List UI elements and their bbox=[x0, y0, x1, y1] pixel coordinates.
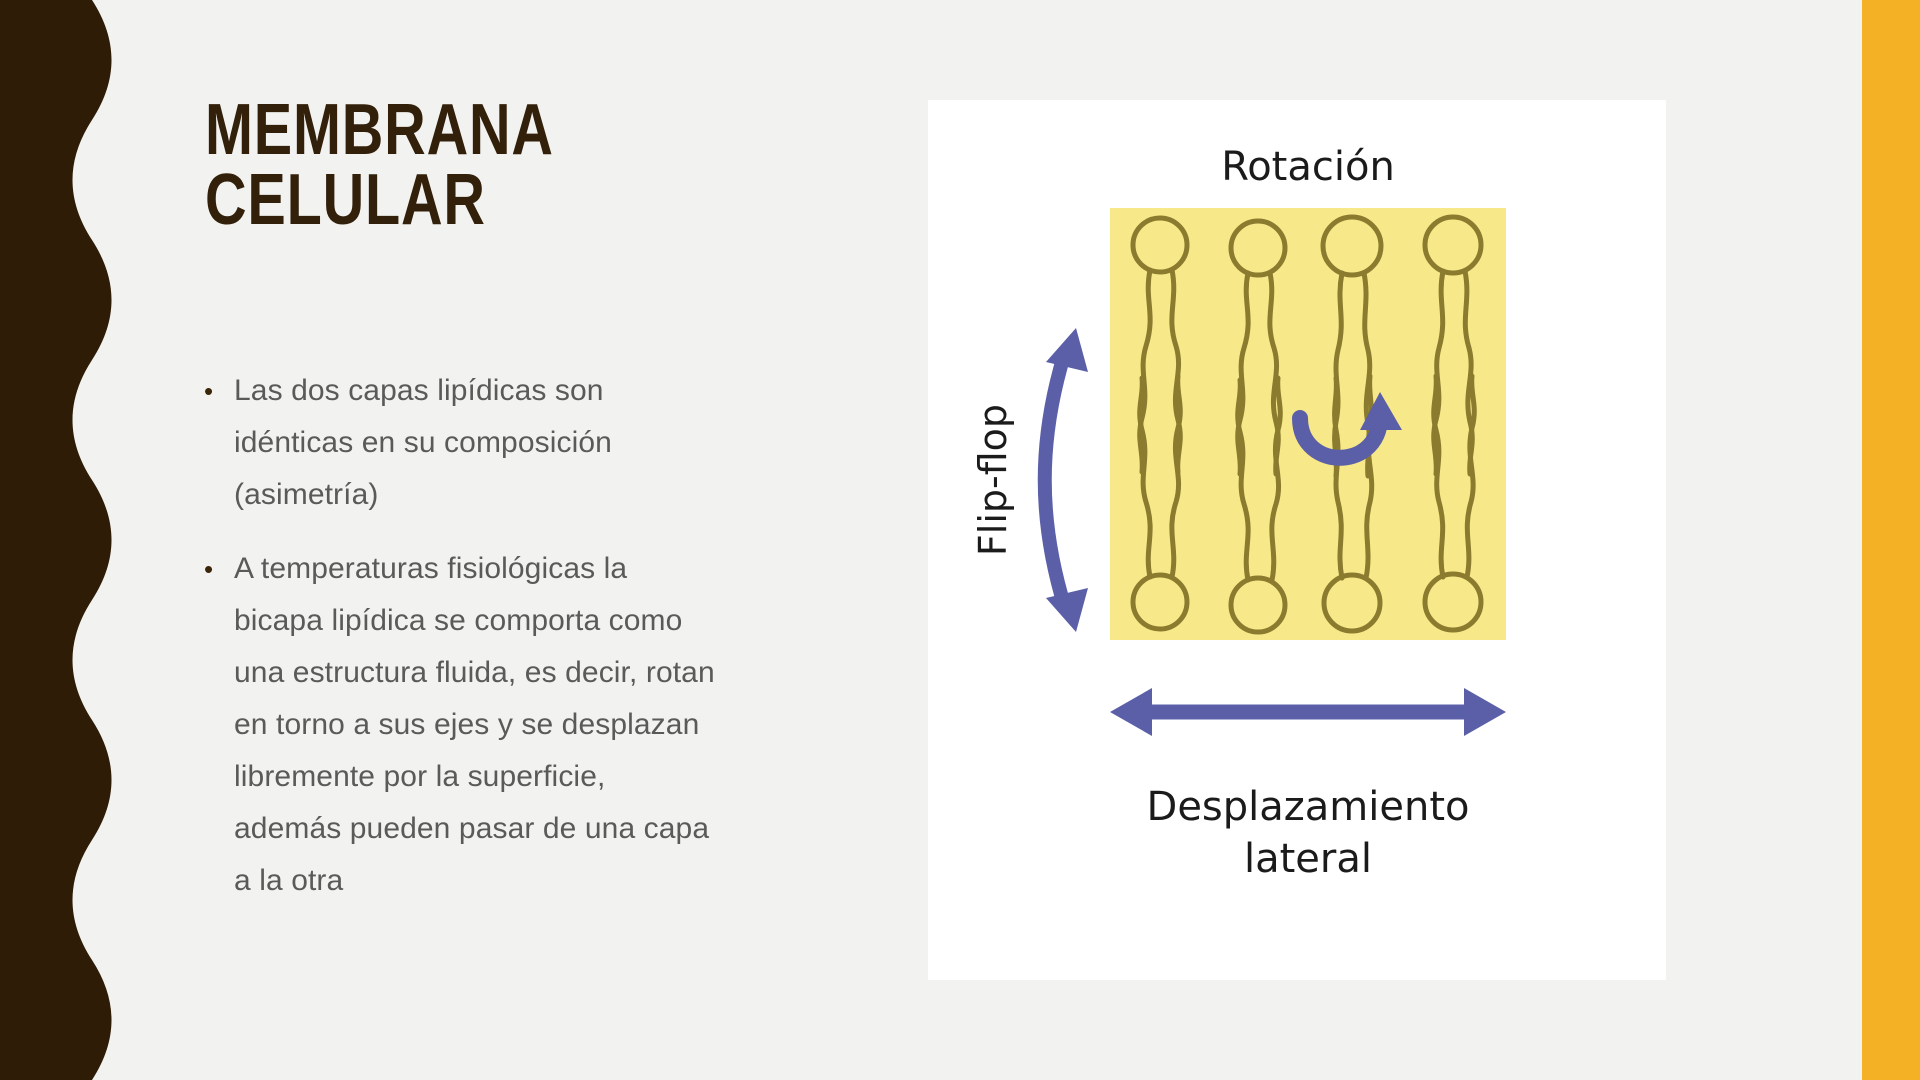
page-title-line-2: CELULAR bbox=[205, 166, 653, 236]
list-item: • A temperaturas fisiológicas la bicapa … bbox=[200, 543, 720, 907]
bullet-marker-icon: • bbox=[200, 543, 234, 595]
figure-card: Rotación Flip-flop Desplazamiento latera… bbox=[928, 100, 1666, 980]
list-item: • Las dos capas lipídicas son idénticas … bbox=[200, 365, 720, 521]
page-title: MEMBRANA CELULAR bbox=[205, 96, 653, 236]
figure-label-desplazamiento: Desplazamiento bbox=[1147, 784, 1470, 830]
page-title-line-1: MEMBRANA bbox=[205, 96, 653, 166]
bullet-marker-icon: • bbox=[200, 365, 234, 417]
bullet-list: • Las dos capas lipídicas son idénticas … bbox=[200, 365, 720, 929]
figure-label-lateral: lateral bbox=[1244, 836, 1372, 882]
figure-label-rotacion: Rotación bbox=[1221, 144, 1395, 190]
lipid-bilayer-diagram: Rotación Flip-flop Desplazamiento latera… bbox=[928, 100, 1666, 980]
bullet-text: Las dos capas lipídicas son idénticas en… bbox=[234, 365, 720, 521]
decorative-wave-band bbox=[0, 0, 140, 1080]
bullet-text: A temperaturas fisiológicas la bicapa li… bbox=[234, 543, 720, 907]
figure-label-flip-flop: Flip-flop bbox=[971, 404, 1015, 556]
accent-bar-right bbox=[1862, 0, 1920, 1080]
